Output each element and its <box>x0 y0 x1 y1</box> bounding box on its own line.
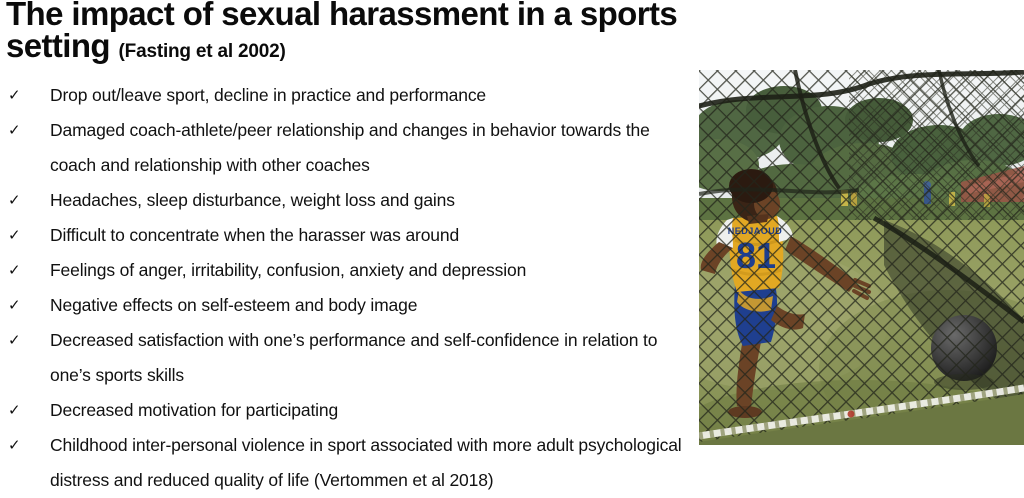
page-title-main: The impact of sexual harassment in a spo… <box>6 0 677 64</box>
list-item: ✓ Drop out/leave sport, decline in pract… <box>0 78 700 113</box>
checkmark-icon: ✓ <box>8 78 24 113</box>
list-item-text: Drop out/leave sport, decline in practic… <box>50 78 695 113</box>
list-item: ✓ Decreased satisfaction with one’s perf… <box>0 323 700 393</box>
list-item-text: Headaches, sleep disturbance, weight los… <box>50 183 695 218</box>
list-item-text: Feelings of anger, irritability, confusi… <box>50 253 695 288</box>
list-item: ✓ Headaches, sleep disturbance, weight l… <box>0 183 700 218</box>
list-item-text: Decreased motivation for participating <box>50 393 695 428</box>
list-item-text: Difficult to concentrate when the harass… <box>50 218 695 253</box>
checkmark-icon: ✓ <box>8 428 24 463</box>
checkmark-icon: ✓ <box>8 183 24 218</box>
list-item: ✓ Feelings of anger, irritability, confu… <box>0 253 700 288</box>
soccer-photo: NEDJAOUD 81 <box>699 70 1024 445</box>
list-item-text: Negative effects on self-esteem and body… <box>50 288 695 323</box>
checkmark-icon: ✓ <box>8 393 24 428</box>
list-item: ✓ Negative effects on self-esteem and bo… <box>0 288 700 323</box>
list-item: ✓ Childhood inter-personal violence in s… <box>0 428 700 498</box>
checkmark-icon: ✓ <box>8 323 24 358</box>
list-item-text: Decreased satisfaction with one’s perfor… <box>50 323 695 393</box>
list-item: ✓ Decreased motivation for participating <box>0 393 700 428</box>
page-title: The impact of sexual harassment in a spo… <box>6 0 706 68</box>
checkmark-icon: ✓ <box>8 288 24 323</box>
list-item: ✓ Difficult to concentrate when the hara… <box>0 218 700 253</box>
checkmark-icon: ✓ <box>8 253 24 288</box>
checkmark-icon: ✓ <box>8 113 24 148</box>
checkmark-icon: ✓ <box>8 218 24 253</box>
list-item: ✓ Damaged coach-athlete/peer relationshi… <box>0 113 700 183</box>
bullet-list: ✓ Drop out/leave sport, decline in pract… <box>0 78 700 498</box>
soccer-photo-image: NEDJAOUD 81 <box>699 70 1024 445</box>
list-item-text: Childhood inter-personal violence in spo… <box>50 428 695 498</box>
list-item-text: Damaged coach-athlete/peer relationship … <box>50 113 695 183</box>
page-title-citation: (Fasting et al 2002) <box>119 41 286 62</box>
